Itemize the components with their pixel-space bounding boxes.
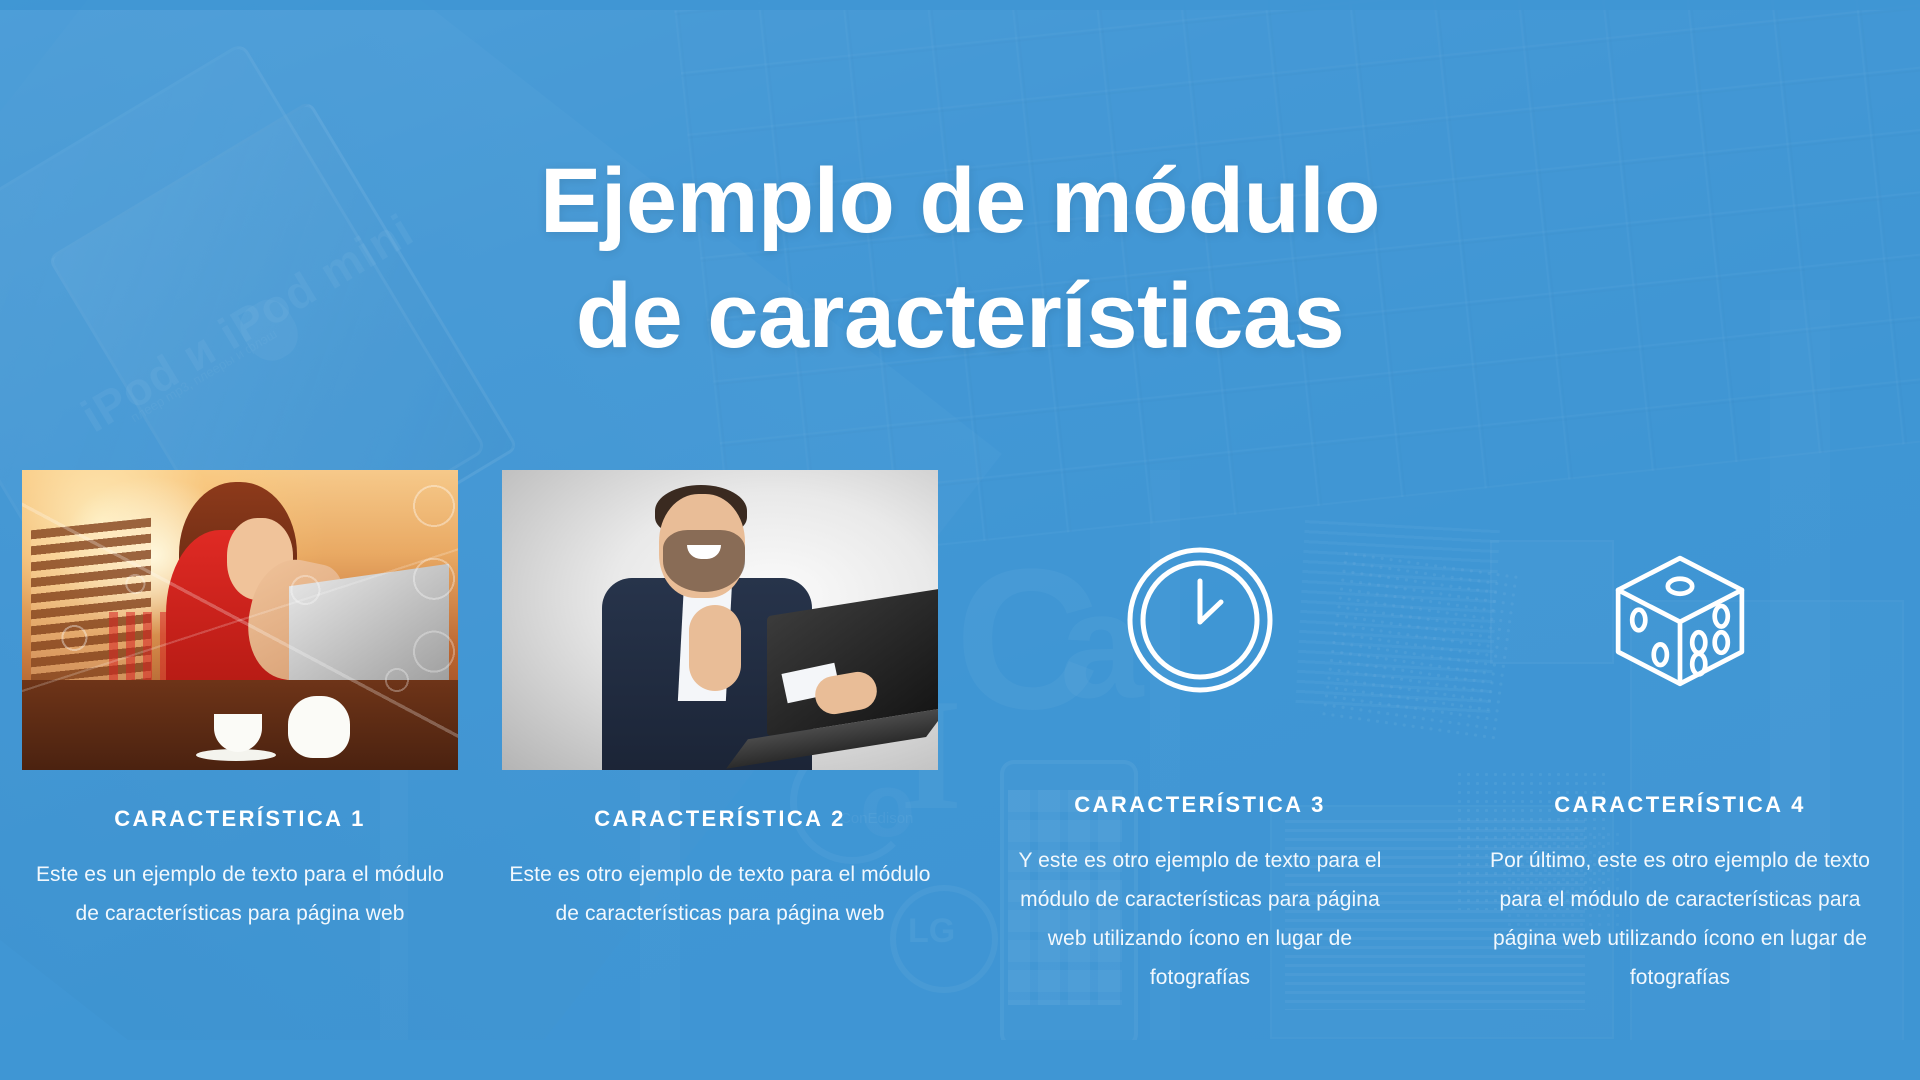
feature-text-3: Y este es otro ejemplo de texto para el …	[1002, 842, 1398, 997]
feature-item-1[interactable]: CARACTERÍSTICA 1 Este es un ejemplo de t…	[0, 470, 480, 997]
feature-item-2[interactable]: CARACTERÍSTICA 2 Este es otro ejemplo de…	[480, 470, 960, 997]
feature-text-2: Este es otro ejemplo de texto para el mó…	[502, 856, 938, 934]
feature-title-2: CARACTERÍSTICA 2	[502, 806, 938, 832]
feature-module-page: iPod и iPod mini плеер mp3, плееры и флэ…	[0, 0, 1920, 1080]
feature-list: CARACTERÍSTICA 1 Este es un ejemplo de t…	[0, 470, 1920, 997]
background-top-band	[0, 0, 1920, 10]
background-bottom-band	[0, 1040, 1920, 1080]
clock-icon	[1002, 470, 1398, 770]
feature-text-1: Este es un ejemplo de texto para el módu…	[22, 856, 458, 934]
woman-with-smartphone-photo	[22, 470, 458, 770]
feature-title-4: CARACTERÍSTICA 4	[1482, 792, 1878, 818]
feature-title-3: CARACTERÍSTICA 3	[1002, 792, 1398, 818]
dice-icon	[1482, 470, 1878, 770]
page-title-line-1: Ejemplo de módulo	[0, 144, 1920, 259]
feature-text-4: Por último, este es otro ejemplo de text…	[1482, 842, 1878, 997]
page-title-line-2: de características	[0, 259, 1920, 374]
feature-item-4[interactable]: CARACTERÍSTICA 4 Por último, este es otr…	[1440, 470, 1920, 997]
man-thumbs-up-photo	[502, 470, 938, 770]
feature-item-3[interactable]: CARACTERÍSTICA 3 Y este es otro ejemplo …	[960, 470, 1440, 997]
feature-title-1: CARACTERÍSTICA 1	[22, 806, 458, 832]
page-title: Ejemplo de módulo de características	[0, 144, 1920, 374]
